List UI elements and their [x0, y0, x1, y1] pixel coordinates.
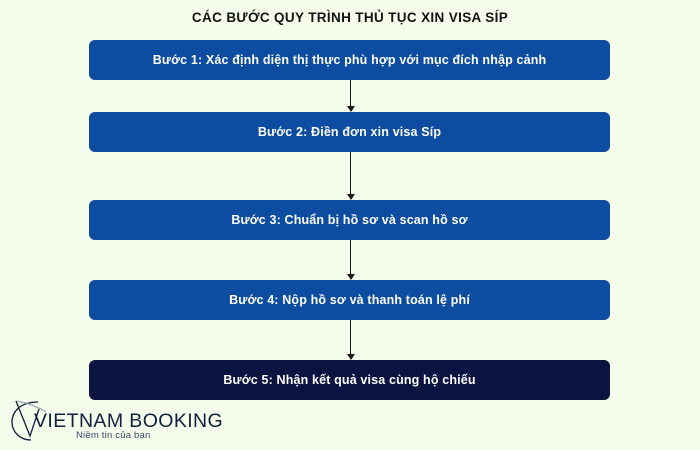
connector-stem — [350, 320, 351, 355]
connector-arrow-1-to-2 — [346, 80, 355, 112]
flow-step-5-label: Bước 5: Nhận kết quả visa cùng hộ chiếu — [223, 372, 475, 388]
flow-step-5[interactable]: Bước 5: Nhận kết quả visa cùng hộ chiếu — [89, 360, 610, 400]
flow-step-2-label: Bước 2: Điền đơn xin visa Síp — [258, 124, 441, 140]
page-title: CÁC BƯỚC QUY TRÌNH THỦ TỤC XIN VISA SÍP — [0, 9, 700, 27]
flow-step-1[interactable]: Bước 1: Xác định diện thị thực phù hợp v… — [89, 40, 610, 80]
flow-step-1-label: Bước 1: Xác định diện thị thực phù hợp v… — [153, 52, 547, 68]
logo-tagline: Niềm tin của bạn — [76, 430, 151, 441]
flowchart-root: CÁC BƯỚC QUY TRÌNH THỦ TỤC XIN VISA SÍP … — [0, 0, 700, 450]
connector-stem — [350, 240, 351, 275]
connector-arrow-2-to-3 — [346, 152, 355, 200]
connector-arrow-4-to-5 — [346, 320, 355, 360]
flow-step-4[interactable]: Bước 4: Nộp hồ sơ và thanh toán lệ phí — [89, 280, 610, 320]
flow-step-3[interactable]: Bước 3: Chuẩn bị hồ sơ và scan hồ sơ — [89, 200, 610, 240]
flow-step-2[interactable]: Bước 2: Điền đơn xin visa Síp — [89, 112, 610, 152]
flow-step-3-label: Bước 3: Chuẩn bị hồ sơ và scan hồ sơ — [231, 212, 467, 228]
brand-logo[interactable]: VIETNAM BOOKING Niềm tin của bạn — [8, 398, 183, 446]
connector-arrow-3-to-4 — [346, 240, 355, 280]
connector-stem — [350, 80, 351, 107]
connector-stem — [350, 152, 351, 195]
flow-step-4-label: Bước 4: Nộp hồ sơ và thanh toán lệ phí — [229, 292, 470, 308]
